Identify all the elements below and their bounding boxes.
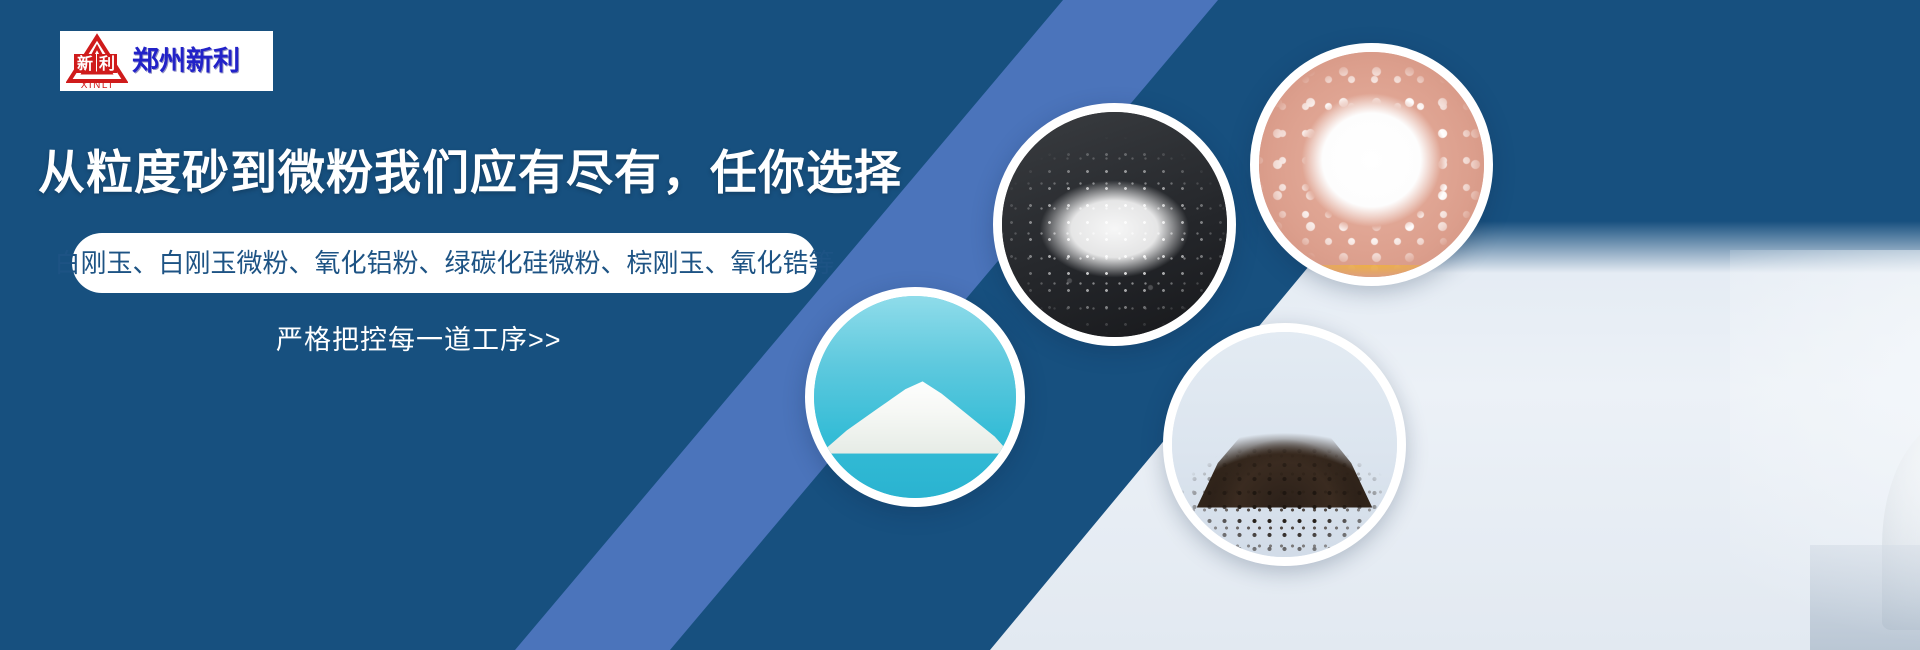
cta-tagline[interactable]: 严格把控每一道工序>> xyxy=(276,327,562,354)
brand-logo[interactable]: 新 利 XINLI 郑州新利 xyxy=(60,31,273,91)
powder-lump-texture xyxy=(1259,52,1484,277)
atmospheric-haze xyxy=(1730,250,1920,650)
product-circle-white-fused-alumina-sand xyxy=(993,103,1236,346)
product-list-label: 白刚玉、白刚玉微粉、氧化铝粉、绿碳化硅微粉、棕刚玉、氧化锆等 xyxy=(55,250,835,276)
product-circle-brown-fused-alumina-grit xyxy=(1163,323,1406,566)
svg-text:利: 利 xyxy=(99,54,115,73)
promo-banner: 新 利 XINLI 郑州新利 从粒度砂到微粉我们应有尽有，任你选择 白刚玉、白刚… xyxy=(0,0,1920,650)
product-list-pill: 白刚玉、白刚玉微粉、氧化铝粉、绿碳化硅微粉、棕刚玉、氧化锆等 xyxy=(72,233,817,293)
sand-grain-texture xyxy=(1002,112,1227,337)
dish-rim-highlight xyxy=(1259,265,1484,279)
svg-text:XINLI: XINLI xyxy=(81,80,114,89)
red-triangle-icon: 新 利 XINLI xyxy=(66,33,128,89)
svg-text:新: 新 xyxy=(77,54,93,73)
grit-grain-texture xyxy=(1172,332,1397,557)
product-circle-white-micropowder-pile xyxy=(805,287,1025,507)
brand-name-label: 郑州新利 xyxy=(132,48,240,75)
page-title: 从粒度砂到微粉我们应有尽有，任你选择 xyxy=(38,146,902,200)
product-circle-white-alumina-micropowder xyxy=(1250,43,1493,286)
